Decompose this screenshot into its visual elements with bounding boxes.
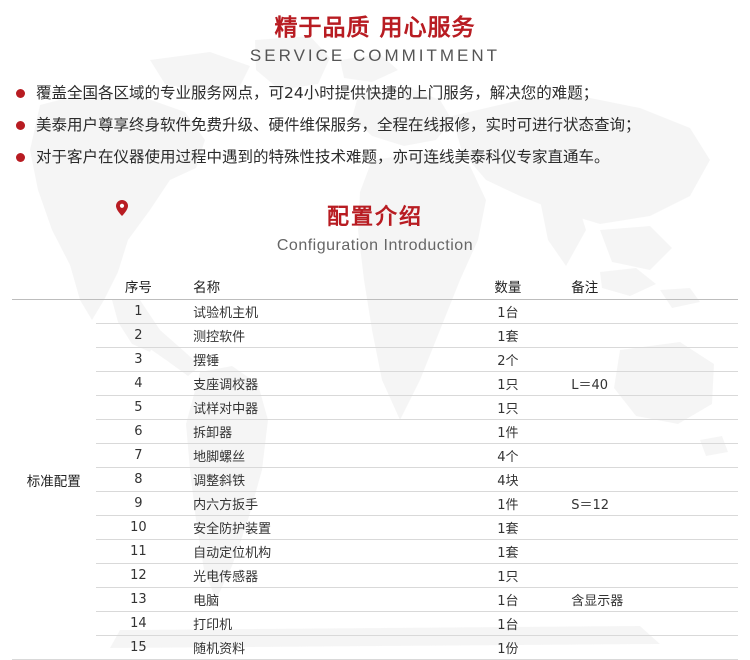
bullet-text: 对于客户在仪器使用过程中遇到的特殊性技术难题，亦可连线美泰科仪专家直通车。 [36,145,610,169]
table-row: 2测控软件1套 [12,324,738,348]
cell-note [561,540,738,564]
cell-name: 试验机主机 [181,300,454,324]
cell-name: 摆锤 [181,348,454,372]
cell-note [561,444,738,468]
table-header-row: 序号 名称 数量 备注 [12,273,738,300]
cell-no: 12 [96,564,182,588]
config-title-cn: 配置介绍 [0,199,750,231]
table-row: 8调整斜铁4块 [12,468,738,492]
table-row: 4支座调校器1只L＝40 [12,372,738,396]
cell-note [561,612,738,636]
cell-note [561,348,738,372]
table-row: 7地脚螺丝4个 [12,444,738,468]
cell-name: 试样对中器 [181,396,454,420]
table-row: 9内六方扳手1件S＝12 [12,492,738,516]
cell-name: 调整斜铁 [181,468,454,492]
cell-note [561,396,738,420]
cell-name: 自动定位机构 [181,540,454,564]
table-row: 3摆锤2个 [12,348,738,372]
cell-no: 5 [96,396,182,420]
cell-qty: 1件 [454,492,561,516]
list-item: 覆盖全国各区域的专业服务网点，可24小时提供快捷的上门服务，解决您的难题； [16,81,750,105]
table-row: 12光电传感器1只 [12,564,738,588]
cell-qty: 1套 [454,540,561,564]
cell-qty: 1套 [454,324,561,348]
cell-note: L＝40 [561,372,738,396]
cell-no: 9 [96,492,182,516]
service-commitment-header: 精于品质 用心服务 SERVICE COMMITMENT [0,0,750,69]
table-row: 13电脑1台含显示器 [12,588,738,612]
column-header-qty: 数量 [454,273,561,300]
cell-qty: 1只 [454,372,561,396]
cell-note [561,420,738,444]
cell-qty: 1份 [454,636,561,660]
cell-name: 拆卸器 [181,420,454,444]
service-bullet-list: 覆盖全国各区域的专业服务网点，可24小时提供快捷的上门服务，解决您的难题； 美泰… [16,81,750,169]
cell-no: 13 [96,588,182,612]
cell-note [561,300,738,324]
list-item: 对于客户在仪器使用过程中遇到的特殊性技术难题，亦可连线美泰科仪专家直通车。 [16,145,750,169]
table-row: 标准配置1试验机主机1台 [12,300,738,324]
table-row: 15随机资料1份 [12,636,738,660]
cell-no: 3 [96,348,182,372]
table-row: 5试样对中器1只 [12,396,738,420]
table-body: 标准配置1试验机主机1台2测控软件1套3摆锤2个4支座调校器1只L＝405试样对… [12,300,738,660]
table-row: 11自动定位机构1套 [12,540,738,564]
cell-no: 2 [96,324,182,348]
column-header-no: 序号 [96,273,182,300]
table-row: 6拆卸器1件 [12,420,738,444]
cell-no: 14 [96,612,182,636]
cell-qty: 1件 [454,420,561,444]
cell-no: 8 [96,468,182,492]
cell-qty: 1台 [454,612,561,636]
cell-qty: 1台 [454,588,561,612]
cell-no: 15 [96,636,182,660]
cell-qty: 1只 [454,564,561,588]
bullet-text: 覆盖全国各区域的专业服务网点，可24小时提供快捷的上门服务，解决您的难题； [36,81,598,105]
bullet-dot-icon [16,121,25,130]
cell-note [561,636,738,660]
cell-no: 10 [96,516,182,540]
cell-no: 4 [96,372,182,396]
cell-qty: 1套 [454,516,561,540]
table-row: 14打印机1台 [12,612,738,636]
cell-qty: 1台 [454,300,561,324]
bullet-text: 美泰用户尊享终身软件免费升级、硬件维保服务，全程在线报修，实时可进行状态查询； [36,113,641,137]
cell-name: 打印机 [181,612,454,636]
cell-note [561,516,738,540]
cell-qty: 1只 [454,396,561,420]
cell-name: 内六方扳手 [181,492,454,516]
bullet-dot-icon [16,89,25,98]
cell-note: 含显示器 [561,588,738,612]
cell-qty: 4个 [454,444,561,468]
column-header-name: 名称 [181,273,454,300]
list-item: 美泰用户尊享终身软件免费升级、硬件维保服务，全程在线报修，实时可进行状态查询； [16,113,750,137]
cell-name: 测控软件 [181,324,454,348]
configuration-table: 序号 名称 数量 备注 标准配置1试验机主机1台2测控软件1套3摆锤2个4支座调… [12,273,738,660]
table-row: 10安全防护装置1套 [12,516,738,540]
cell-name: 光电传感器 [181,564,454,588]
cell-name: 支座调校器 [181,372,454,396]
service-title-en: SERVICE COMMITMENT [0,43,750,69]
configuration-table-wrap: 序号 名称 数量 备注 标准配置1试验机主机1台2测控软件1套3摆锤2个4支座调… [12,273,738,660]
cell-note [561,468,738,492]
cell-no: 1 [96,300,182,324]
cell-no: 6 [96,420,182,444]
group-label-cell: 标准配置 [12,300,96,660]
cell-no: 11 [96,540,182,564]
cell-qty: 4块 [454,468,561,492]
cell-qty: 2个 [454,348,561,372]
cell-no: 7 [96,444,182,468]
bullet-dot-icon [16,153,25,162]
cell-note [561,324,738,348]
cell-note: S＝12 [561,492,738,516]
config-title-en: Configuration Introduction [0,237,750,255]
configuration-header: 配置介绍 Configuration Introduction [0,199,750,255]
cell-name: 安全防护装置 [181,516,454,540]
cell-name: 随机资料 [181,636,454,660]
cell-name: 电脑 [181,588,454,612]
cell-name: 地脚螺丝 [181,444,454,468]
column-header-note: 备注 [561,273,738,300]
cell-note [561,564,738,588]
column-header-group [12,273,96,300]
service-title-cn: 精于品质 用心服务 [0,14,750,42]
